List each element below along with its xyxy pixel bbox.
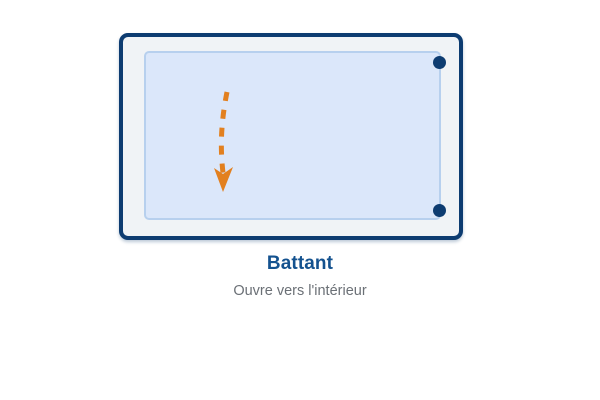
caption-subtitle: Ouvre vers l'intérieur <box>0 281 600 301</box>
window-type-card: Battant Ouvre vers l'intérieur <box>0 0 600 400</box>
hinge-top-icon <box>433 56 446 69</box>
caption-title: Battant <box>0 252 600 276</box>
window-frame <box>119 33 463 240</box>
hinge-bottom-icon <box>433 204 446 217</box>
caption: Battant Ouvre vers l'intérieur <box>0 252 600 301</box>
glass-panel <box>144 51 441 220</box>
